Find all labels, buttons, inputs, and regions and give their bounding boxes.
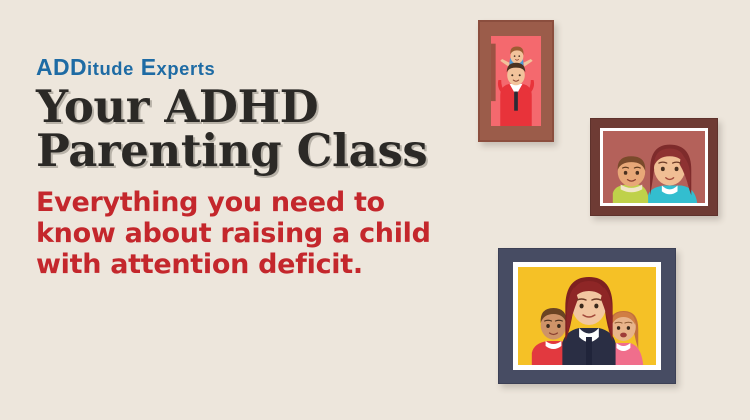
frame-1-photo bbox=[491, 36, 541, 126]
illustration-mother-son bbox=[603, 131, 705, 203]
photo-frame-family bbox=[498, 248, 676, 384]
illustration-family bbox=[518, 267, 656, 365]
headline-line-2: Parenting Class bbox=[36, 129, 506, 173]
eyebrow-part-add: ADD bbox=[36, 54, 87, 80]
photo-frame-portrait-father-child bbox=[478, 20, 554, 142]
text-block: ADDitude Experts Your ADHD Parenting Cla… bbox=[36, 56, 506, 281]
headline-line-1: Your ADHD bbox=[36, 85, 506, 129]
frame-2-mat bbox=[600, 128, 708, 206]
page-title: Your ADHD Parenting Class bbox=[36, 85, 506, 172]
frame-3-mat bbox=[513, 262, 661, 370]
poster-canvas: ADDitude Experts Your ADHD Parenting Cla… bbox=[0, 0, 750, 420]
illustration-father-child bbox=[491, 36, 541, 126]
subtitle: Everything you need to know about raisin… bbox=[36, 188, 436, 280]
frame-1-mat bbox=[491, 36, 541, 126]
frame-2-photo bbox=[603, 131, 705, 203]
eyebrow-part-e: E bbox=[141, 54, 157, 80]
eyebrow-additude-experts: ADDitude Experts bbox=[36, 56, 506, 79]
frame-3-photo bbox=[518, 267, 656, 365]
eyebrow-part-itude: itude bbox=[87, 58, 134, 79]
eyebrow-part-xperts: xperts bbox=[157, 58, 216, 79]
photo-frame-mother-son bbox=[590, 118, 718, 216]
eyebrow-space bbox=[134, 54, 141, 80]
